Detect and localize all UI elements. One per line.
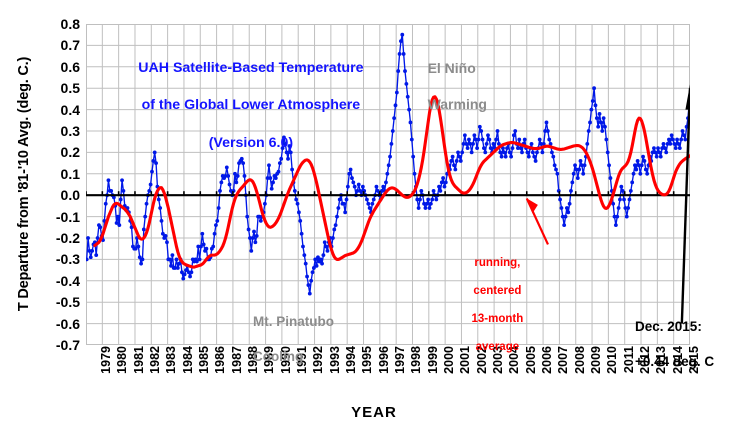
y-axis-tick-label: -0.2 <box>56 230 80 246</box>
chart-title-annotation: UAH Satellite-Based Temperature of the G… <box>98 40 388 171</box>
y-axis-tick-label: -0.6 <box>56 316 80 332</box>
x-axis-tick-label: 1979 <box>99 346 113 374</box>
running-average-annotation: running, centered 13-month average <box>447 242 535 368</box>
x-axis-tick-label: 1996 <box>377 346 391 374</box>
y-axis-tick-label: -0.5 <box>56 294 80 310</box>
y-axis-tick-label: -0.1 <box>56 209 80 225</box>
y-axis-tick-label: 0.4 <box>61 102 80 118</box>
x-axis-tick-label: 2010 <box>605 346 619 374</box>
y-axis-tick-label: 0.3 <box>61 123 80 139</box>
x-axis-tick-label: 1999 <box>426 346 440 374</box>
dec-2015-arrow <box>682 88 690 323</box>
x-axis-tick-label: 1980 <box>115 346 129 374</box>
running-line-4: average <box>476 341 519 353</box>
running-line-1: running, <box>474 257 520 269</box>
y-axis-tick-label: 0.5 <box>61 80 80 96</box>
running-line-3: 13-month <box>472 313 524 325</box>
el-nino-warming-annotation: El Niño Warming <box>412 42 487 132</box>
chart-title-line-1: UAH Satellite-Based Temperature <box>138 60 363 76</box>
pinatubo-line-2: Cooling <box>253 349 303 364</box>
x-axis-tick-label: 1982 <box>148 346 162 374</box>
x-axis-tick-label: 1994 <box>344 346 358 374</box>
dec-2015-line-1: Dec. 2015: <box>635 319 702 334</box>
y-axis-tick-label: 0.8 <box>61 16 80 32</box>
x-axis-tick-label: 1983 <box>164 346 178 374</box>
dec-2015-annotation: Dec. 2015: +0.44 deg. C <box>620 300 714 388</box>
y-axis-tick-label: 0.0 <box>61 187 80 203</box>
chart-title-line-3: (Version 6.0) <box>209 135 293 151</box>
y-axis-tick-label: 0.6 <box>61 59 80 75</box>
y-axis-tick-label: -0.7 <box>56 337 80 353</box>
x-axis-tick-label: 1998 <box>409 346 423 374</box>
x-axis-tick-labels: 1979198019811982198319841985198619871988… <box>86 346 690 404</box>
x-axis-tick-label: 2009 <box>589 346 603 374</box>
x-axis-tick-label: 1985 <box>197 346 211 374</box>
y-axis-tick-labels: 0.80.70.60.50.40.30.20.10.0-0.1-0.2-0.3-… <box>26 0 80 432</box>
x-axis-tick-label: 1981 <box>132 346 146 374</box>
y-axis-tick-label: 0.7 <box>61 37 80 53</box>
running-line-2: centered <box>473 285 521 297</box>
chart-figure: T Departure from '81-'10 Avg. (deg. C.) … <box>0 0 748 432</box>
x-axis-tick-label: 1986 <box>213 346 227 374</box>
dec-2015-line-2: +0.44 deg. C <box>635 354 714 369</box>
chart-title-line-2: of the Global Lower Atmosphere <box>142 97 361 113</box>
x-axis-tick-label: 1995 <box>360 346 374 374</box>
y-axis-tick-label: 0.2 <box>61 144 80 160</box>
y-axis-tick-label: -0.3 <box>56 251 80 267</box>
el-nino-line-2: Warming <box>428 96 487 112</box>
y-axis-tick-label: 0.1 <box>61 166 80 182</box>
x-axis-tick-label: 1997 <box>393 346 407 374</box>
x-axis-tick-label: 1984 <box>181 346 195 374</box>
pinatubo-line-1: Mt. Pinatubo <box>253 314 334 329</box>
y-axis-tick-label: -0.4 <box>56 273 80 289</box>
el-nino-line-1: El Niño <box>428 60 476 76</box>
mt-pinatubo-cooling-annotation: Mt. Pinatubo Cooling <box>238 296 334 382</box>
x-axis-tick-label: 2006 <box>540 346 554 374</box>
x-axis-tick-label: 2008 <box>573 346 587 374</box>
x-axis-title: YEAR <box>0 404 748 421</box>
x-axis-tick-label: 2007 <box>556 346 570 374</box>
